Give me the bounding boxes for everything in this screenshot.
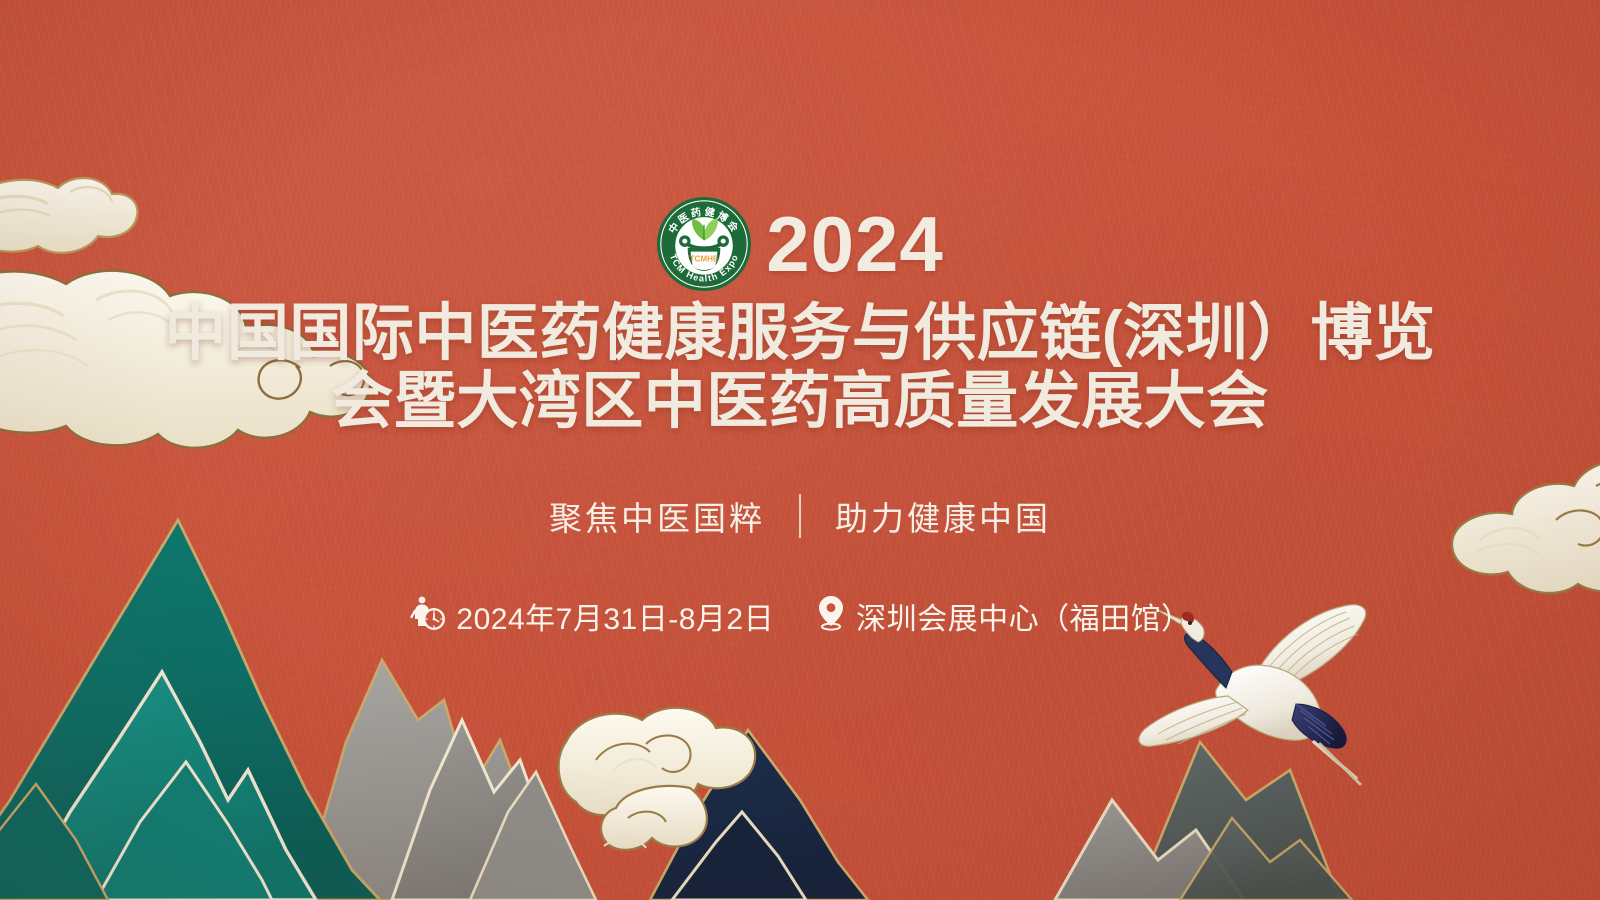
- event-meta-row: 2024年7月31日-8月2日 深圳会展中心（福田馆）: [0, 592, 1600, 640]
- subtitle-right: 助力健康中国: [835, 492, 1051, 540]
- subtitle-left: 聚焦中医国粹: [549, 492, 765, 540]
- title-line-1: 中国国际中医药健康服务与供应链(深圳）博览: [0, 300, 1600, 368]
- event-date: 2024年7月31日-8月2日: [456, 594, 774, 638]
- subtitle-row: 聚焦中医国粹 助力健康中国: [0, 492, 1600, 540]
- person-clock-icon: [408, 592, 448, 640]
- logo-center-text: TCMHE: [690, 254, 720, 263]
- event-location: 深圳会展中心（福田馆）: [856, 594, 1192, 638]
- banner-content: TCMHE 中医药健博会 TCM Health Expo 2024 中国国际中医…: [0, 0, 1600, 900]
- subtitle-divider: [799, 494, 801, 538]
- event-date-item: 2024年7月31日-8月2日: [408, 592, 774, 640]
- event-location-item: 深圳会展中心（福田馆）: [814, 592, 1192, 640]
- tcm-health-expo-logo: TCMHE 中医药健博会 TCM Health Expo: [656, 196, 752, 292]
- event-year: 2024: [766, 205, 944, 283]
- logo-year-row: TCMHE 中医药健博会 TCM Health Expo 2024: [0, 196, 1600, 292]
- expo-banner: TCMHE 中医药健博会 TCM Health Expo 2024 中国国际中医…: [0, 0, 1600, 900]
- title-line-2: 会暨大湾区中医药高质量发展大会: [0, 368, 1600, 436]
- page-title: 中国国际中医药健康服务与供应链(深圳）博览 会暨大湾区中医药高质量发展大会: [0, 300, 1600, 436]
- map-pin-icon: [814, 592, 848, 640]
